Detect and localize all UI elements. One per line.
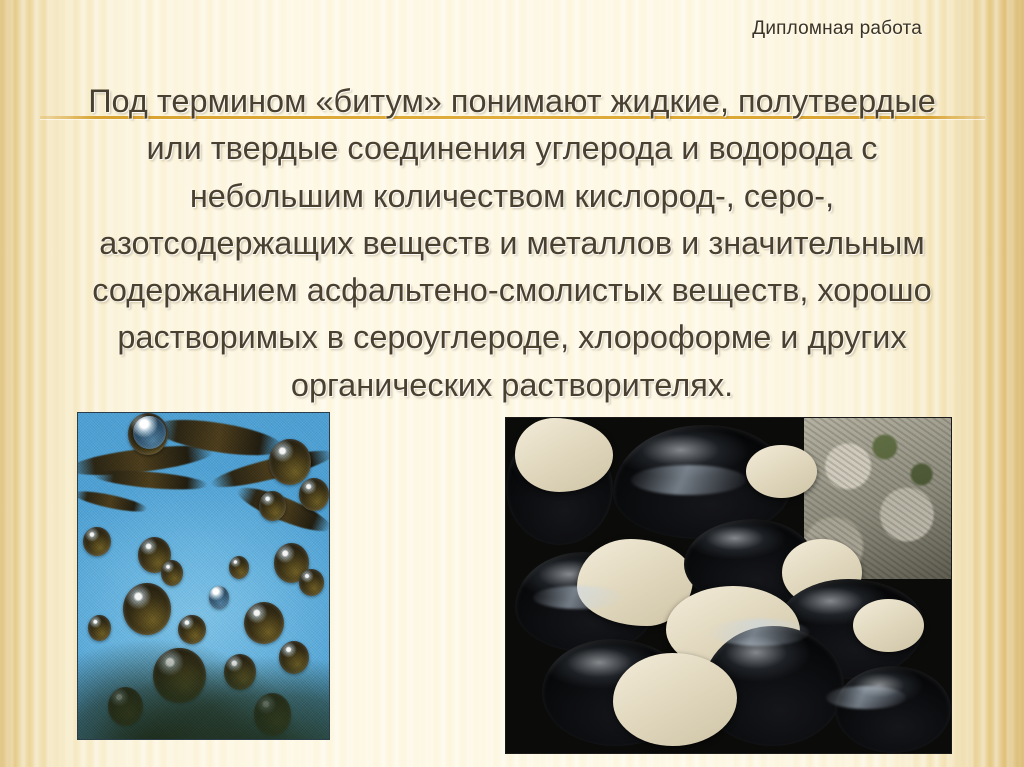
oil-photo-texture-overlay	[78, 413, 329, 739]
bitumen-specular-highlight	[711, 619, 809, 646]
body-line: или твердые соединения углерода и водоро…	[28, 125, 996, 172]
bitumen-in-paper-bags-photo	[505, 417, 952, 754]
oil-droplets-on-water-photo	[77, 412, 330, 740]
bitumen-specular-highlight	[533, 586, 622, 609]
body-line: органических растворителях.	[28, 362, 996, 409]
slide-body-text: Под термином «битум» понимают жидкие, по…	[28, 78, 996, 409]
page-title: Дипломная работа	[752, 18, 922, 39]
slide-canvas: Дипломная работа Под термином «битум» по…	[0, 0, 1024, 767]
body-line: азотсодержащих веществ и металлов и знач…	[28, 220, 996, 267]
body-line: Под термином «битум» понимают жидкие, по…	[28, 78, 996, 125]
body-line: растворимых в сероуглероде, хлороформе и…	[28, 314, 996, 361]
bitumen-specular-highlight	[631, 465, 747, 495]
slide-header: Дипломная работа	[0, 18, 984, 40]
bitumen-blob	[835, 666, 951, 753]
torn-paper-bag	[613, 653, 738, 747]
body-line: небольшим количеством кислород-, серо-,	[28, 173, 996, 220]
body-line: содержанием асфальтено-смолистых веществ…	[28, 267, 996, 314]
